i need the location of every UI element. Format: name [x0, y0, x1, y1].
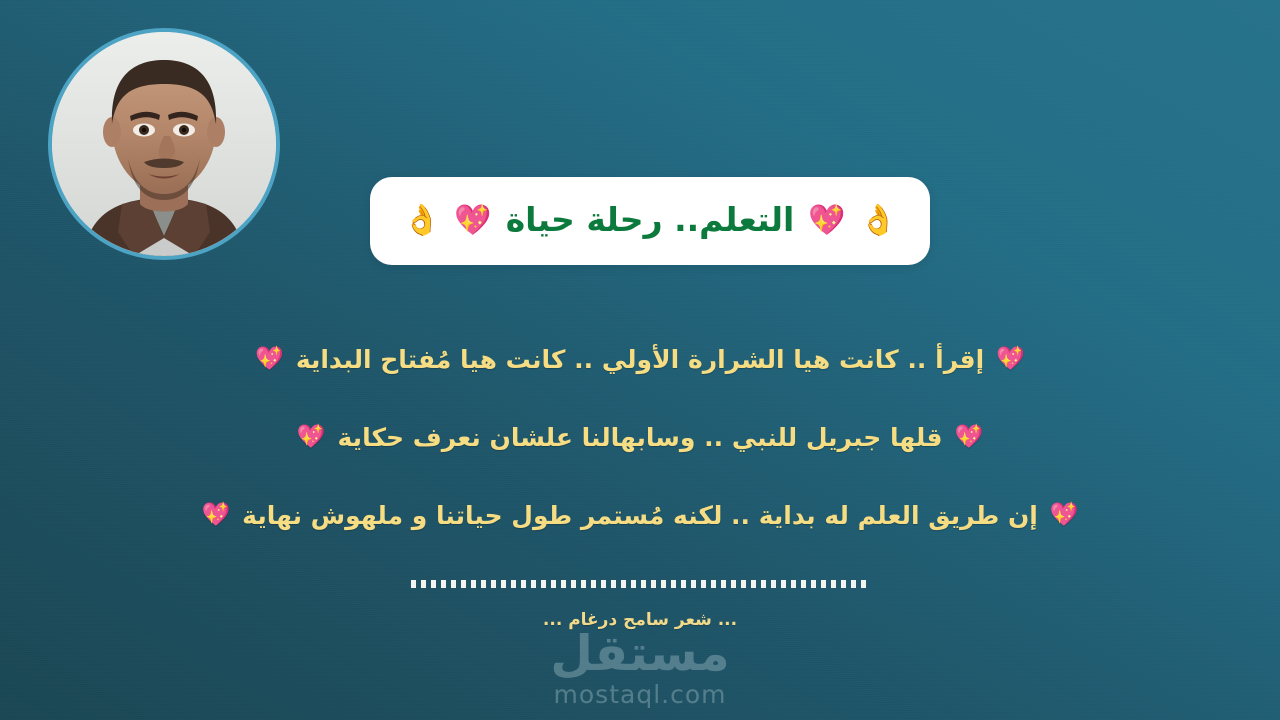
poem-line: 💖 قلها جبريل للنبي .. وسابهالنا علشان نع… [297, 398, 983, 476]
watermark: مستقل mostaql.com [0, 629, 1280, 712]
avatar [48, 28, 280, 260]
sparkling-heart-icon: 💖 [996, 348, 1025, 371]
avatar-photo [52, 32, 276, 256]
watermark-url: mostaql.com [554, 678, 727, 712]
ok-hand-icon-right: 👌 [403, 206, 440, 236]
sparkling-heart-icon: 💖 [954, 426, 983, 449]
watermark-arabic: مستقل [550, 629, 729, 678]
poem-line-text: قلها جبريل للنبي .. وسابهالنا علشان نعرف… [338, 423, 943, 452]
poem-line: 💖 إن طريق العلم له بداية .. لكنه مُستمر … [202, 476, 1079, 554]
poem-line: 💖 إقرأ .. كانت هيا الشرارة الأولي .. كان… [255, 320, 1025, 398]
sparkling-heart-icon: 💖 [297, 426, 326, 449]
ok-hand-icon: 👌 [860, 206, 897, 236]
poem-line-text: إن طريق العلم له بداية .. لكنه مُستمر طو… [242, 501, 1038, 530]
sparkling-heart-icon-right: 💖 [454, 206, 491, 236]
sparkling-heart-icon: 💖 [808, 206, 845, 236]
poem-lines: 💖 إقرأ .. كانت هيا الشرارة الأولي .. كان… [0, 320, 1280, 554]
sparkling-heart-icon: 💖 [1050, 504, 1079, 527]
dotted-divider [411, 580, 869, 588]
attribution-text: ... شعر سامح درغام ... [543, 610, 737, 630]
poem-line-text: إقرأ .. كانت هيا الشرارة الأولي .. كانت … [296, 345, 984, 374]
sparkling-heart-icon: 💖 [202, 504, 231, 527]
page-title: التعلم.. رحلة حياة [506, 203, 795, 239]
footer: ... شعر سامح درغام ... [0, 580, 1280, 630]
poster-canvas: 👌 💖 التعلم.. رحلة حياة 💖 👌 💖 إقرأ .. كان… [0, 0, 1280, 720]
sparkling-heart-icon: 💖 [255, 348, 284, 371]
title-card: 👌 💖 التعلم.. رحلة حياة 💖 👌 [370, 177, 930, 265]
